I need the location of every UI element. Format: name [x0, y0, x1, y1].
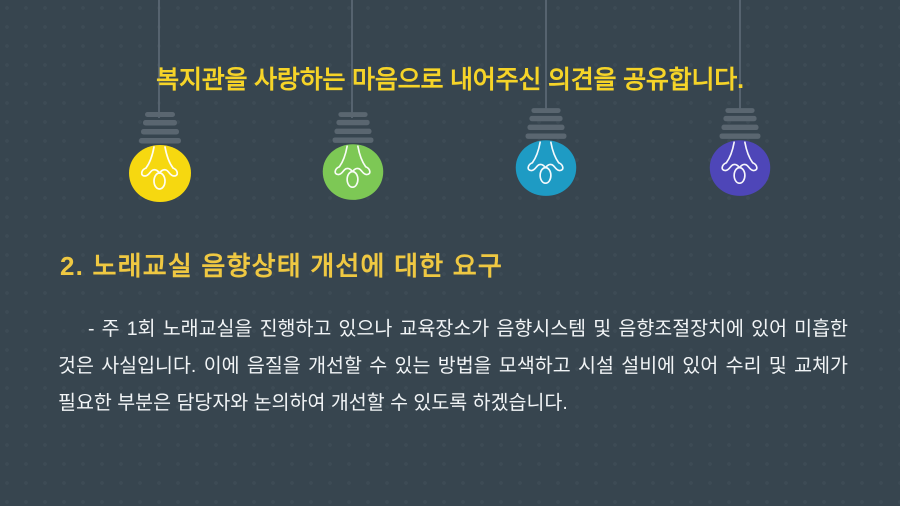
- lightbulb-blue: [506, 106, 586, 198]
- slide-canvas: 복지관을 사랑하는 마음으로 내어주신 의견을 공유합니다. 2. 노래교실 음…: [0, 0, 900, 506]
- lightbulb-purple: [700, 106, 780, 198]
- bulb-screw-base: [526, 108, 567, 139]
- bulb-screw-base: [720, 108, 761, 139]
- bulb-screw-base: [333, 112, 374, 143]
- section-body-text: - 주 1회 노래교실을 진행하고 있으나 교육장소가 음향시스템 및 음향조절…: [58, 311, 848, 422]
- bulb-cord-1: [158, 0, 160, 118]
- bulb-cord-2: [351, 0, 353, 118]
- lightbulb-green: [313, 112, 393, 200]
- section-heading: 2. 노래교실 음향상태 개선에 대한 요구: [60, 246, 503, 283]
- slide-title: 복지관을 사랑하는 마음으로 내어주신 의견을 공유합니다.: [0, 60, 900, 96]
- bulb-screw-base: [139, 112, 181, 144]
- lightbulb-yellow: [119, 112, 201, 202]
